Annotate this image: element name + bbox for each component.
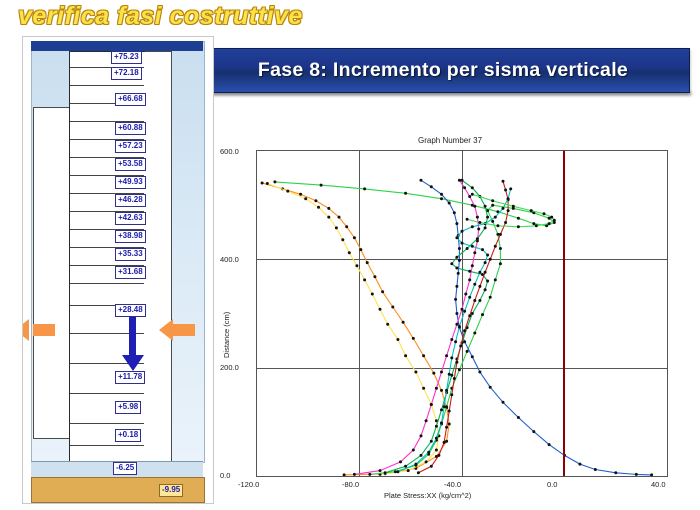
y-tick-label: 0.0 bbox=[220, 471, 230, 480]
series-magenta bbox=[353, 179, 480, 476]
level-label: +49.93 bbox=[115, 176, 146, 189]
plot-area bbox=[256, 150, 668, 477]
floor-line bbox=[70, 283, 144, 284]
x-tick-label: 0.0 bbox=[547, 480, 557, 489]
series-green-dark bbox=[384, 179, 490, 475]
floor-line bbox=[70, 393, 144, 394]
x-axis-label: Plate Stress:XX (kg/cm^2) bbox=[384, 491, 471, 500]
series-red bbox=[417, 180, 510, 475]
page-title: verifica fasi costruttive bbox=[18, 2, 303, 31]
y-axis-label: Distance (cm) bbox=[222, 312, 231, 358]
orange-arrow-left-shaft bbox=[33, 324, 55, 336]
floor-line bbox=[70, 445, 144, 446]
roof-band bbox=[31, 41, 203, 51]
banner-title: Fase 8: Incremento per sisma verticale bbox=[258, 59, 628, 82]
level-label: +28.48 bbox=[115, 304, 146, 317]
series-yellow bbox=[266, 182, 441, 476]
building-section-figure: +75.23 +72.18 +66.68 +60.88 +57.23 +53.5… bbox=[22, 36, 214, 504]
x-tick-label: -80.0 bbox=[342, 480, 359, 489]
series-green-spike bbox=[466, 193, 556, 229]
series-teal bbox=[396, 187, 512, 473]
level-label: +66.68 bbox=[115, 93, 146, 106]
right-column bbox=[145, 51, 172, 493]
y-tick-label: 600.0 bbox=[220, 147, 239, 156]
level-label: +38.98 bbox=[115, 230, 146, 243]
level-label: +53.58 bbox=[115, 158, 146, 171]
x-tick-label: -40.0 bbox=[444, 480, 461, 489]
level-label: +42.63 bbox=[115, 212, 146, 225]
blue-down-arrow-shaft bbox=[129, 317, 136, 357]
level-label: +75.23 bbox=[111, 51, 142, 64]
series-green-light bbox=[273, 180, 555, 476]
level-label: +60.88 bbox=[115, 122, 146, 135]
floor-line bbox=[70, 85, 144, 86]
level-label: +0.18 bbox=[115, 429, 141, 442]
level-label: +35.33 bbox=[115, 248, 146, 261]
level-label: +57.23 bbox=[115, 140, 146, 153]
x-tick-label: 40.0 bbox=[651, 480, 666, 489]
floor-line bbox=[70, 423, 144, 424]
x-tick-label: -120.0 bbox=[238, 480, 259, 489]
y-tick-label: 400.0 bbox=[220, 255, 239, 264]
series-lines bbox=[257, 151, 667, 476]
orange-arrow-right-shaft bbox=[171, 324, 195, 336]
series-blue bbox=[420, 179, 654, 476]
zero-reference-line bbox=[563, 151, 565, 476]
chart-container: Graph Number 37 600.0 400.0 200.0 0.0 -1… bbox=[214, 128, 686, 503]
level-label: -9.95 bbox=[159, 484, 183, 497]
level-label: +5.98 bbox=[115, 401, 141, 414]
left-wing bbox=[33, 107, 70, 439]
blue-down-arrow-head bbox=[122, 355, 144, 371]
y-tick-label: 200.0 bbox=[220, 363, 239, 372]
level-label: +11.78 bbox=[115, 371, 145, 384]
level-label: +72.18 bbox=[111, 67, 142, 80]
banner: Fase 8: Incremento per sisma verticale bbox=[196, 48, 690, 93]
chart-title: Graph Number 37 bbox=[214, 136, 686, 145]
level-label: +31.68 bbox=[115, 266, 146, 279]
orange-arrow-left-head bbox=[22, 319, 29, 341]
orange-arrow-right-head bbox=[159, 319, 173, 341]
level-label: +46.28 bbox=[115, 194, 146, 207]
level-label: -6.25 bbox=[113, 462, 137, 475]
